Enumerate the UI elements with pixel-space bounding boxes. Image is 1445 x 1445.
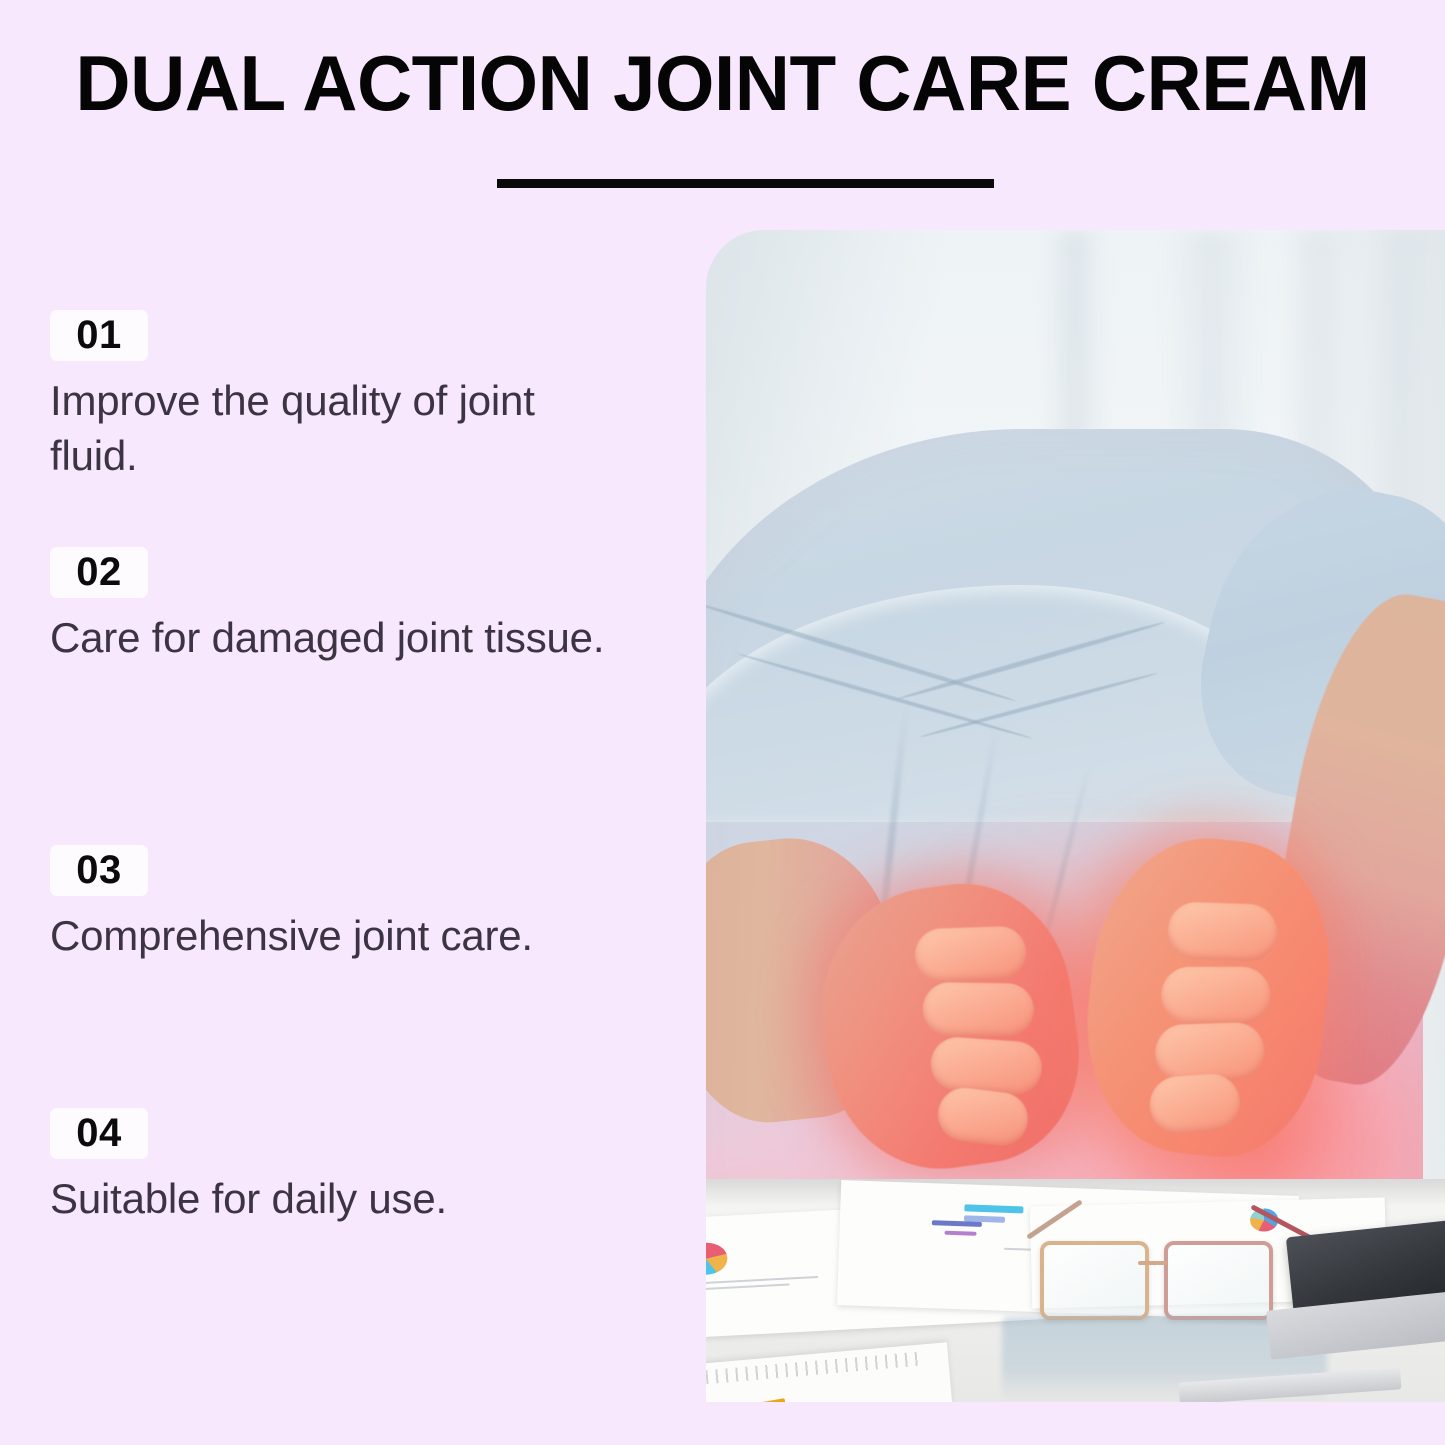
feature-number-badge: 03 [50, 845, 148, 896]
glasses-lens [1040, 1241, 1149, 1321]
bar-chart-graphic [964, 1205, 1024, 1215]
feature-number-badge: 02 [50, 547, 148, 598]
header: DUAL ACTION JOINT CARE CREAM [0, 0, 1445, 215]
list-item: 04 Suitable for daily use. [50, 1108, 650, 1226]
feature-description: Suitable for daily use. [50, 1171, 620, 1226]
pie-chart-graphic [706, 1242, 729, 1275]
glasses-bridge [1138, 1261, 1168, 1265]
title-divider [497, 179, 994, 188]
pencil [706, 1398, 786, 1402]
paper-text-line [706, 1276, 819, 1284]
finger [922, 983, 1033, 1038]
photo-scene [706, 230, 1445, 1402]
list-item: 02 Care for damaged joint tissue. [50, 547, 650, 665]
feature-number-badge: 04 [50, 1108, 148, 1159]
feature-description: Improve the quality of joint fluid. [50, 373, 620, 484]
eyeglasses [1016, 1211, 1312, 1327]
page-title: DUAL ACTION JOINT CARE CREAM [14, 44, 1430, 122]
notebook-spiral [706, 1352, 921, 1384]
finger [935, 1085, 1031, 1149]
list-item: 03 Comprehensive joint care. [50, 845, 650, 963]
finger [1167, 902, 1278, 963]
feature-number-badge: 01 [50, 310, 148, 361]
glasses-lens [1164, 1241, 1273, 1321]
finger [1161, 967, 1270, 1024]
bar-chart-graphic [931, 1221, 982, 1228]
feature-description: Comprehensive joint care. [50, 908, 620, 963]
product-infographic: DUAL ACTION JOINT CARE CREAM 01 Improve … [0, 0, 1445, 1445]
feature-description: Care for damaged joint tissue. [50, 610, 620, 665]
finger [914, 926, 1026, 983]
finger [929, 1035, 1043, 1096]
list-item: 01 Improve the quality of joint fluid. [50, 310, 650, 484]
desk-scene [706, 1179, 1445, 1402]
paper-text-line [706, 1283, 791, 1290]
bar-chart-graphic [945, 1231, 977, 1236]
finger [1148, 1073, 1242, 1136]
product-photo [706, 230, 1445, 1402]
spiral-notebook [706, 1342, 952, 1402]
